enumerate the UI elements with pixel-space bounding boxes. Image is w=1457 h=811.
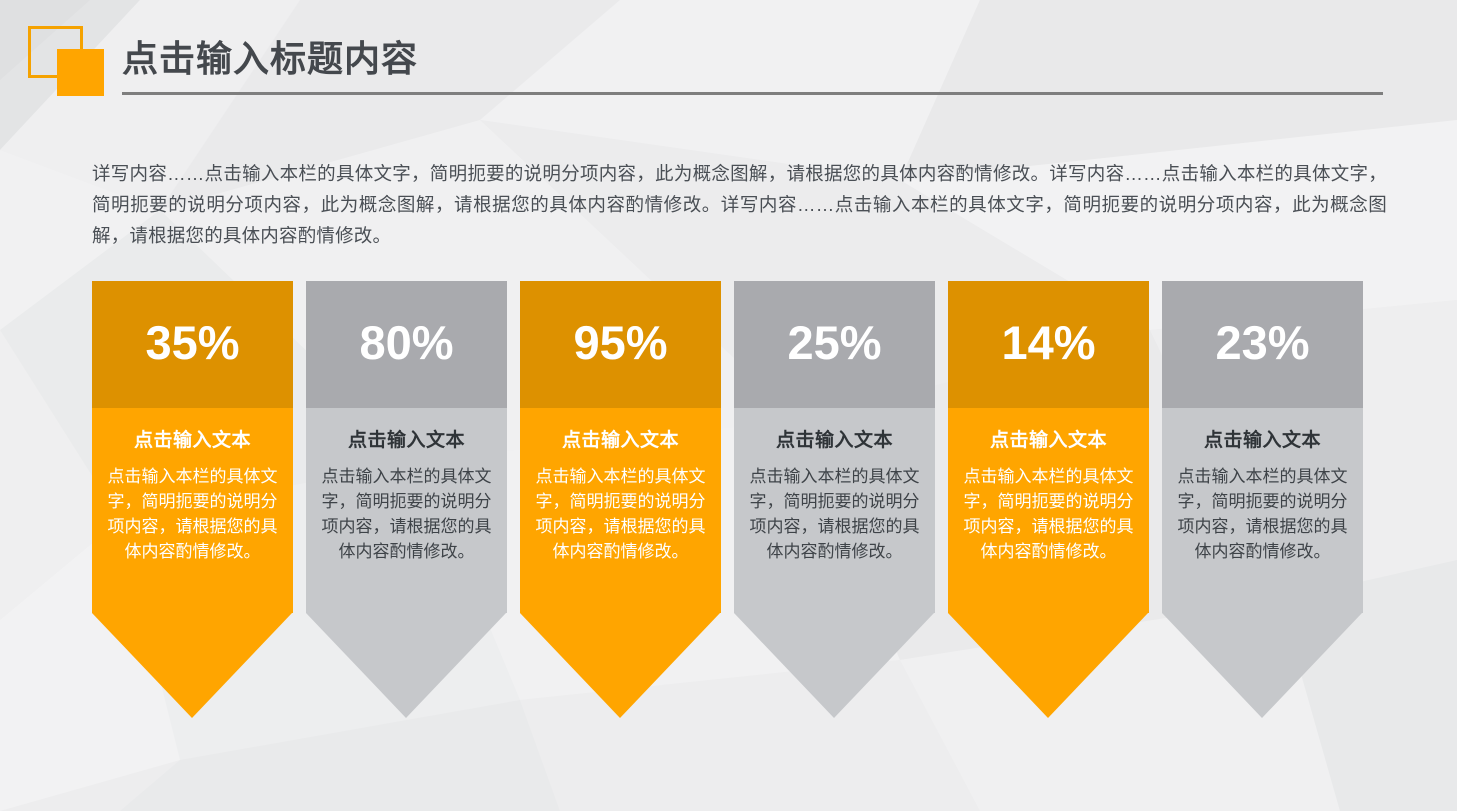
banner-subtitle-2: 点击输入文本: [317, 430, 496, 453]
banner-description-1: 点击输入本栏的具体文字，简明扼要的说明分项内容，请根据您的具体内容酌情修改。: [103, 464, 282, 564]
title-divider: [122, 92, 1383, 95]
banner-arrow-tip-3: [520, 613, 720, 718]
banner-header-1: 35%: [92, 281, 293, 408]
banner-row: 35% 点击输入文本 点击输入本栏的具体文字，简明扼要的说明分项内容，请根据您的…: [92, 281, 1388, 721]
banner-arrow-tip-1: [92, 613, 292, 718]
slide-header: 点击输入标题内容: [0, 0, 1457, 110]
banner-description-5: 点击输入本栏的具体文字，简明扼要的说明分项内容，请根据您的具体内容酌情修改。: [959, 464, 1138, 564]
banner-percent-6: 23%: [1215, 319, 1309, 370]
banner-percent-1: 35%: [145, 319, 239, 370]
intro-paragraph: 详写内容……点击输入本栏的具体文字，简明扼要的说明分项内容，此为概念图解，请根据…: [92, 158, 1387, 251]
banner-body-3: 点击输入文本 点击输入本栏的具体文字，简明扼要的说明分项内容，请根据您的具体内容…: [520, 408, 721, 613]
banner-item-3[interactable]: 95% 点击输入文本 点击输入本栏的具体文字，简明扼要的说明分项内容，请根据您的…: [520, 281, 721, 719]
banner-arrow-tip-6: [1162, 613, 1362, 718]
banner-body-4: 点击输入文本 点击输入本栏的具体文字，简明扼要的说明分项内容，请根据您的具体内容…: [734, 408, 935, 613]
banner-subtitle-3: 点击输入文本: [531, 430, 710, 453]
banner-arrow-tip-2: [306, 613, 506, 718]
banner-percent-5: 14%: [1001, 319, 1095, 370]
slide-canvas: 点击输入标题内容 详写内容……点击输入本栏的具体文字，简明扼要的说明分项内容，此…: [0, 0, 1457, 811]
banner-item-5[interactable]: 14% 点击输入文本 点击输入本栏的具体文字，简明扼要的说明分项内容，请根据您的…: [948, 281, 1149, 719]
banner-body-1: 点击输入文本 点击输入本栏的具体文字，简明扼要的说明分项内容，请根据您的具体内容…: [92, 408, 293, 613]
banner-arrow-tip-5: [948, 613, 1148, 718]
banner-subtitle-4: 点击输入文本: [745, 430, 924, 453]
banner-description-2: 点击输入本栏的具体文字，简明扼要的说明分项内容，请根据您的具体内容酌情修改。: [317, 464, 496, 564]
banner-arrow-tip-4: [734, 613, 934, 718]
banner-item-6[interactable]: 23% 点击输入文本 点击输入本栏的具体文字，简明扼要的说明分项内容，请根据您的…: [1162, 281, 1363, 719]
banner-header-2: 80%: [306, 281, 507, 408]
logo-filled-square: [57, 49, 104, 96]
banner-description-3: 点击输入本栏的具体文字，简明扼要的说明分项内容，请根据您的具体内容酌情修改。: [531, 464, 710, 564]
banner-body-5: 点击输入文本 点击输入本栏的具体文字，简明扼要的说明分项内容，请根据您的具体内容…: [948, 408, 1149, 613]
banner-header-5: 14%: [948, 281, 1149, 408]
banner-item-4[interactable]: 25% 点击输入文本 点击输入本栏的具体文字，简明扼要的说明分项内容，请根据您的…: [734, 281, 935, 719]
banner-subtitle-5: 点击输入文本: [959, 430, 1138, 453]
banner-header-4: 25%: [734, 281, 935, 408]
banner-subtitle-1: 点击输入文本: [103, 430, 282, 453]
banner-header-3: 95%: [520, 281, 721, 408]
banner-percent-2: 80%: [359, 319, 453, 370]
banner-body-6: 点击输入文本 点击输入本栏的具体文字，简明扼要的说明分项内容，请根据您的具体内容…: [1162, 408, 1363, 613]
banner-percent-4: 25%: [787, 319, 881, 370]
page-title: 点击输入标题内容: [122, 30, 418, 82]
banner-description-4: 点击输入本栏的具体文字，简明扼要的说明分项内容，请根据您的具体内容酌情修改。: [745, 464, 924, 564]
banner-item-1[interactable]: 35% 点击输入文本 点击输入本栏的具体文字，简明扼要的说明分项内容，请根据您的…: [92, 281, 293, 719]
banner-description-6: 点击输入本栏的具体文字，简明扼要的说明分项内容，请根据您的具体内容酌情修改。: [1173, 464, 1352, 564]
banner-body-2: 点击输入文本 点击输入本栏的具体文字，简明扼要的说明分项内容，请根据您的具体内容…: [306, 408, 507, 613]
banner-header-6: 23%: [1162, 281, 1363, 408]
banner-item-2[interactable]: 80% 点击输入文本 点击输入本栏的具体文字，简明扼要的说明分项内容，请根据您的…: [306, 281, 507, 719]
banner-subtitle-6: 点击输入文本: [1173, 430, 1352, 453]
banner-percent-3: 95%: [573, 319, 667, 370]
